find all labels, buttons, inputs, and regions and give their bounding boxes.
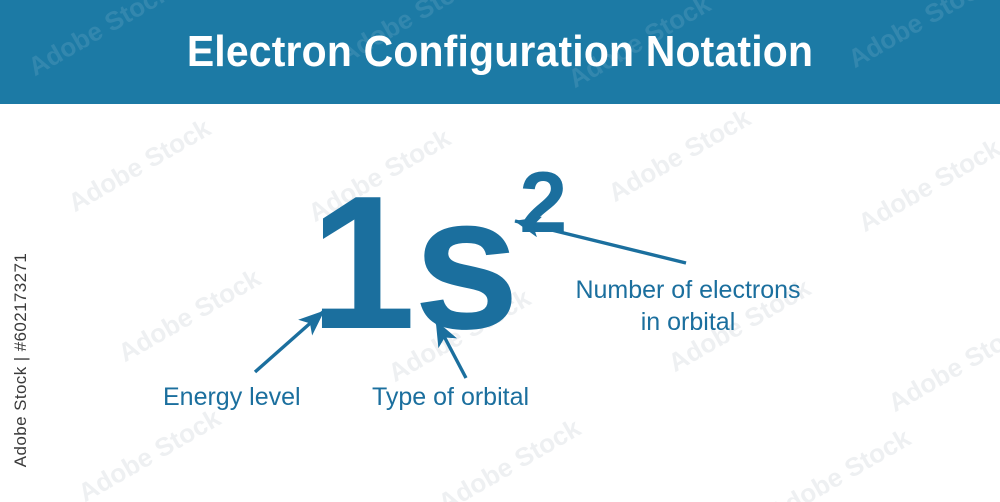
watermark-tile: Adobe Stock: [853, 132, 1000, 238]
watermark-tile: Adobe Stock: [763, 422, 916, 502]
electron-configuration-notation: 1s2: [310, 168, 565, 328]
electron-count-superscript: 2: [519, 155, 567, 251]
energy-level-symbol: 1: [310, 157, 414, 369]
label-energy-level: Energy level: [163, 381, 301, 413]
label-type-of-orbital: Type of orbital: [372, 381, 529, 413]
watermark-tile: Adobe Stock: [883, 312, 1000, 418]
watermark-tile: Adobe Stock: [73, 402, 226, 502]
orbital-type-symbol: s: [414, 157, 518, 369]
watermark-stock-id: Adobe Stock | #602173271: [11, 235, 31, 485]
watermark-tile: Adobe Stock: [603, 102, 756, 208]
watermark-tile: Adobe Stock: [63, 112, 216, 218]
label-electrons-line2: in orbital: [546, 306, 830, 338]
label-electrons-line1: Number of electrons: [546, 274, 830, 306]
page-title: Electron Configuration Notation: [35, 0, 965, 104]
label-number-of-electrons: Number of electrons in orbital: [546, 274, 830, 338]
watermark-tile: Adobe Stock: [433, 412, 586, 502]
watermark-tile: Adobe Stock: [113, 262, 266, 368]
diagram-canvas: Adobe Stock Adobe Stock Adobe Stock Adob…: [0, 0, 1000, 502]
